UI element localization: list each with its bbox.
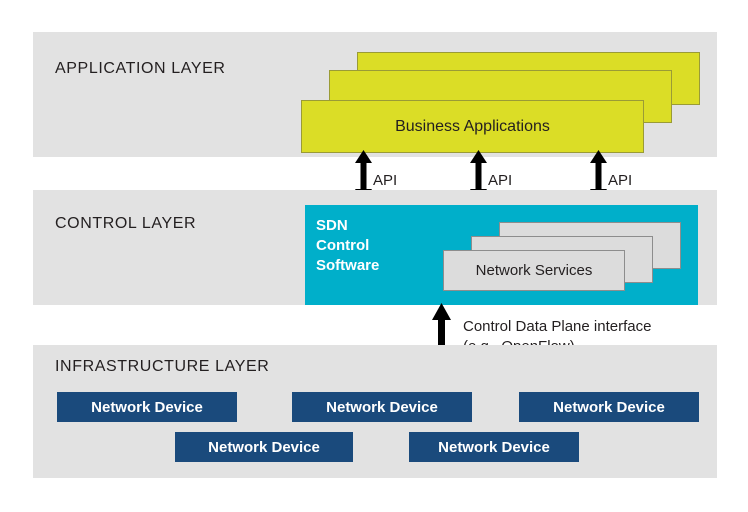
network-device-box: Network Device <box>519 392 699 422</box>
network-device-label: Network Device <box>553 399 665 416</box>
sdn-control-software-label: SDN Control Software <box>316 216 379 276</box>
business-application-box-front: Business Applications <box>301 100 644 153</box>
network-services-box-front: Network Services <box>443 250 625 291</box>
network-device-box: Network Device <box>409 432 579 462</box>
network-device-label: Network Device <box>438 439 550 456</box>
business-applications-label: Business Applications <box>395 118 550 136</box>
network-device-box: Network Device <box>175 432 353 462</box>
network-device-label: Network Device <box>208 439 320 456</box>
api-label-1: API <box>488 172 512 189</box>
control-layer-title: CONTROL LAYER <box>55 215 196 233</box>
infrastructure-layer-title: INFRASTRUCTURE LAYER <box>55 358 269 376</box>
api-label-2: API <box>608 172 632 189</box>
api-label-0: API <box>373 172 397 189</box>
network-services-label: Network Services <box>476 262 593 279</box>
sdn-architecture-diagram: APPLICATION LAYER Business Applications … <box>0 0 748 512</box>
network-device-box: Network Device <box>292 392 472 422</box>
network-device-box: Network Device <box>57 392 237 422</box>
network-device-label: Network Device <box>326 399 438 416</box>
application-layer-title: APPLICATION LAYER <box>55 60 226 78</box>
network-device-label: Network Device <box>91 399 203 416</box>
